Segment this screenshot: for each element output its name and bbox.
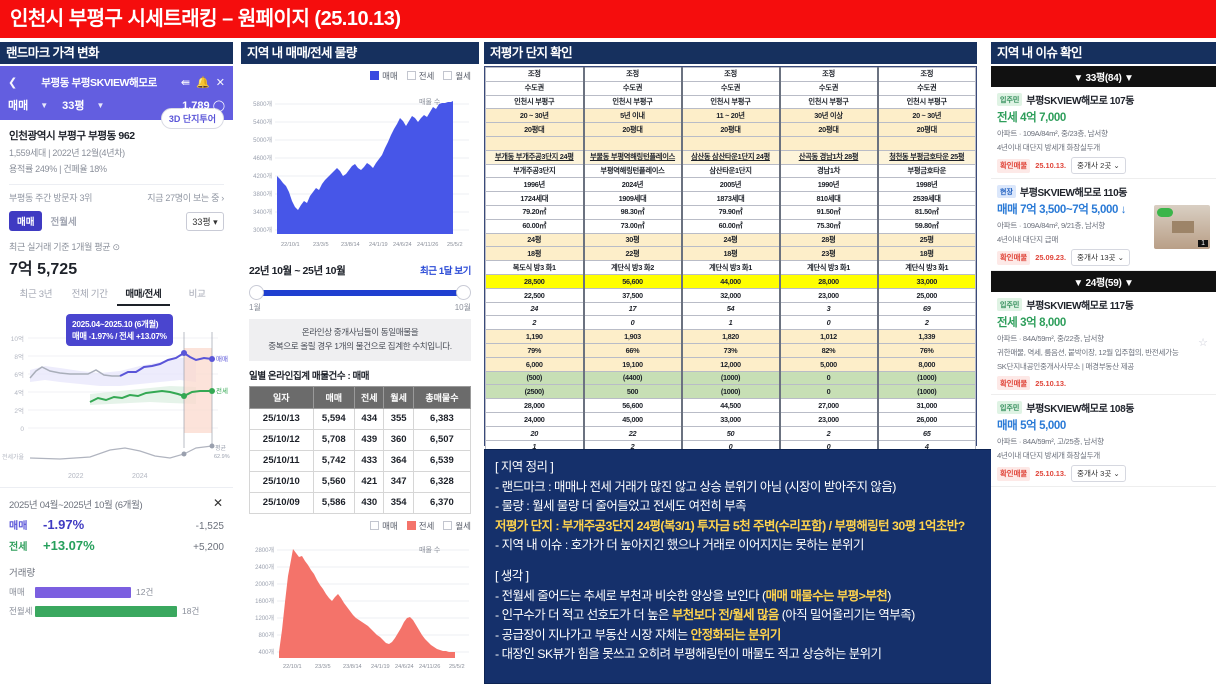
grid-cell: 조정 bbox=[878, 68, 976, 82]
share-icon[interactable]: ⇚ bbox=[181, 76, 190, 89]
grid-row-cnt1: 241754369 bbox=[486, 302, 976, 316]
complex-link[interactable]: 삼산동 삼산타운1단지 24평 bbox=[682, 150, 780, 164]
svg-text:2022: 2022 bbox=[68, 473, 84, 480]
grid-cell: 1909세대 bbox=[584, 192, 682, 206]
svg-text:2억: 2억 bbox=[14, 407, 24, 415]
legend-item-wolse[interactable]: 월세 bbox=[443, 520, 471, 532]
section-header-undervalued: 저평가 단지 확인 bbox=[484, 42, 977, 64]
grid-cell: 1,339 bbox=[878, 330, 976, 344]
grid-cell: 24평 bbox=[486, 233, 584, 247]
grid-cell: 69 bbox=[878, 302, 976, 316]
svg-text:3800개: 3800개 bbox=[253, 190, 272, 198]
cell-date: 25/10/11 bbox=[250, 450, 314, 471]
col-date: 일자 bbox=[250, 386, 314, 408]
grid-cell: 26,000 bbox=[878, 412, 976, 426]
daily-listing-table: 일자 매매 전세 월세 총매물수 25/10/135,5944343556,38… bbox=[249, 386, 471, 514]
cell-value: 434 bbox=[355, 408, 384, 429]
grid-cell: 23,000 bbox=[780, 288, 878, 302]
legend-item-sale[interactable]: 매매 bbox=[370, 70, 398, 82]
cell-value: 6,370 bbox=[413, 492, 470, 513]
search-icon: ◯ bbox=[213, 100, 225, 112]
listing-title: 부평SKVIEW해모로 108동 bbox=[1026, 400, 1134, 415]
deal-type-select[interactable]: 매매▼ bbox=[8, 97, 48, 113]
grid-cell: (500) bbox=[486, 371, 584, 385]
grid-cell: 부평역해링턴플레이스 bbox=[584, 164, 682, 178]
grid-cell: 24평 bbox=[682, 233, 780, 247]
vol-jeonse-count: 18건 bbox=[182, 605, 199, 617]
grid-cell: 28,000 bbox=[486, 399, 584, 413]
svg-text:62.9%: 62.9% bbox=[214, 454, 230, 460]
period-slider[interactable] bbox=[249, 284, 471, 302]
svg-text:24/1/19: 24/1/19 bbox=[371, 664, 390, 670]
grid-cell: 20평대 bbox=[682, 123, 780, 137]
svg-text:10억: 10억 bbox=[11, 335, 24, 343]
grid-cell: 계단식 방3 화2 bbox=[584, 261, 682, 275]
section-header-supply: 지역 내 매매/전세 물량 bbox=[241, 42, 479, 64]
grid-row-exclusive_pyeong: 18평22평18평23평18평 bbox=[486, 247, 976, 261]
svg-text:2800개: 2800개 bbox=[255, 546, 274, 554]
listing-agency: SK단지내공인중개사사무소 | 매경부동산 제공 bbox=[997, 361, 1210, 372]
cell-value: 6,539 bbox=[413, 450, 470, 471]
svg-text:6억: 6억 bbox=[14, 371, 24, 379]
grid-cell: 82% bbox=[780, 343, 878, 357]
listing-title: 부평SKVIEW해모로 107동 bbox=[1026, 92, 1134, 107]
grid-cell: 33,000 bbox=[878, 274, 976, 288]
summary-sale-label: 매매 bbox=[9, 517, 39, 532]
tab-compare[interactable]: 비교 bbox=[170, 286, 224, 306]
bell-icon[interactable]: 🔔 bbox=[196, 76, 210, 89]
cell-value: 6,507 bbox=[413, 429, 470, 450]
svg-text:매물 수: 매물 수 bbox=[419, 98, 441, 106]
listing-count[interactable]: 1,789 ◯ bbox=[182, 99, 225, 112]
grid-cell: 44,500 bbox=[682, 399, 780, 413]
list-item[interactable]: 입주민부평SKVIEW해모로 107동전세 4억 7,000아파트 · 109A… bbox=[991, 87, 1216, 179]
cell-value: 6,328 bbox=[413, 471, 470, 492]
grid-cell: 33,000 bbox=[682, 412, 780, 426]
listings-panel: ▼ 33평(84) ▼입주민부평SKVIEW해모로 107동전세 4억 7,00… bbox=[991, 66, 1216, 684]
svg-text:4억: 4억 bbox=[14, 389, 24, 397]
grid-cell: 59.80㎡ bbox=[878, 219, 976, 233]
verified-badge: 확인매물 bbox=[997, 159, 1030, 173]
grid-cell: 인천시 부평구 bbox=[682, 95, 780, 109]
cell-value: 6,383 bbox=[413, 408, 470, 429]
grid-cell: 1,820 bbox=[682, 330, 780, 344]
volume-label: 거래량 bbox=[9, 565, 224, 579]
grid-row-invest: 6,00019,10012,0005,0008,000 bbox=[486, 357, 976, 371]
cell-value: 360 bbox=[384, 429, 413, 450]
chart-tabs: 최근 3년 전체 기간 매매/전세 비교 bbox=[9, 286, 224, 306]
close-icon[interactable]: ✕ bbox=[213, 496, 223, 510]
verified-badge: 확인매물 bbox=[997, 467, 1030, 481]
grid-cell: 25평 bbox=[878, 233, 976, 247]
listing-price: 전세 3억 8,000 bbox=[997, 314, 1210, 330]
chevron-down-icon: ▼ bbox=[40, 101, 48, 110]
grid-cell: 23평 bbox=[780, 247, 878, 261]
grid-cell bbox=[584, 136, 682, 150]
legend-item-jeonse[interactable]: 전세 bbox=[407, 70, 435, 82]
cell-value: 347 bbox=[384, 471, 413, 492]
grid-cell: 수도권 bbox=[584, 81, 682, 95]
list-item[interactable]: 입주민부평SKVIEW해모로 108동매매 5억 5,000아파트 · 84A/… bbox=[991, 395, 1216, 487]
svg-text:4200개: 4200개 bbox=[253, 172, 272, 180]
undervalued-table-panel: 조정조정조정조정조정수도권수도권수도권수도권수도권인천시 부평구인천시 부평구인… bbox=[484, 66, 977, 446]
table-caption: 일별 온라인집계 매물건수 : 매매 bbox=[249, 368, 471, 382]
cell-value: 5,742 bbox=[313, 450, 354, 471]
grid-cell: 2 bbox=[486, 316, 584, 330]
grid-row-adj2: (2500)500(1000)0(1000) bbox=[486, 385, 976, 399]
svg-text:8억: 8억 bbox=[14, 353, 24, 361]
cell-value: 439 bbox=[355, 429, 384, 450]
svg-text:23/3/5: 23/3/5 bbox=[315, 664, 331, 670]
svg-text:24/11/26: 24/11/26 bbox=[419, 664, 440, 670]
svg-text:0: 0 bbox=[20, 426, 24, 433]
complex-name: 부평동 부평SKVIEW해모로 bbox=[23, 75, 175, 90]
grid-cell: 73% bbox=[682, 343, 780, 357]
cell-value: 355 bbox=[384, 408, 413, 429]
grid-row-region: 수도권수도권수도권수도권수도권 bbox=[486, 81, 976, 95]
svg-text:평균: 평균 bbox=[215, 444, 227, 452]
grid-row-price_lo: 22,50037,50032,00023,00025,000 bbox=[486, 288, 976, 302]
grid-row-spacer bbox=[486, 136, 976, 150]
cell-value: 5,560 bbox=[313, 471, 354, 492]
slider-handle-right[interactable] bbox=[456, 285, 471, 300]
svg-text:3000개: 3000개 bbox=[253, 226, 272, 234]
cell-value: 5,594 bbox=[313, 408, 354, 429]
grid-row-year: 1996년2024년2005년1990년1998년 bbox=[486, 178, 976, 192]
favorite-star-icon[interactable]: ☆ bbox=[1198, 336, 1208, 349]
grid-row-price_hi: 28,50056,60044,00028,00033,000 bbox=[486, 274, 976, 288]
grid-cell: 1873세대 bbox=[682, 192, 780, 206]
one-page-dashboard: 인천시 부평구 시세트래킹 – 원페이지 (25.10.13) 랜드마크 가격 … bbox=[0, 0, 1216, 684]
summary-jeonse-label: 전세 bbox=[9, 538, 39, 553]
listing-group-header[interactable]: ▼ 33평(84) ▼ bbox=[991, 66, 1216, 87]
section-header-landmark: 랜드마크 가격 변화 bbox=[0, 42, 233, 64]
legend-item-jeonse[interactable]: 전세 bbox=[407, 520, 435, 532]
grid-cell: 20 bbox=[486, 426, 584, 440]
grid-cell bbox=[878, 136, 976, 150]
complex-link[interactable]: 부물동 부평역해링턴플레이스 bbox=[584, 150, 682, 164]
grid-cell: 30평 bbox=[584, 233, 682, 247]
cell-value: 421 bbox=[355, 471, 384, 492]
vol-sale-label: 매매 bbox=[9, 586, 35, 598]
chart-tooltip: 2025.04~2025.10 (6개월) 매매 -1.97% / 전세 +13… bbox=[66, 314, 173, 346]
tab-3years[interactable]: 최근 3년 bbox=[9, 286, 63, 306]
room-photo bbox=[1172, 221, 1194, 233]
grid-row-supply_area: 79.20㎡98.30㎡79.90㎡91.50㎡81.50㎡ bbox=[486, 205, 976, 219]
grid-cell: 조정 bbox=[780, 68, 878, 82]
grid-cell bbox=[780, 136, 878, 150]
slider-label-right: 10월 bbox=[455, 302, 471, 313]
grid-cell: 조정 bbox=[486, 68, 584, 82]
grid-cell: 98.30㎡ bbox=[584, 205, 682, 219]
svg-text:25/5/2: 25/5/2 bbox=[447, 242, 463, 248]
cell-date: 25/10/10 bbox=[250, 471, 314, 492]
tab-sale-jeonse[interactable]: 매매/전세 bbox=[117, 286, 171, 306]
svg-text:24/1/19: 24/1/19 bbox=[369, 242, 388, 248]
tab-sale[interactable]: 매매 bbox=[9, 211, 42, 231]
svg-text:24/11/26: 24/11/26 bbox=[417, 242, 438, 248]
grid-cell: (1000) bbox=[682, 371, 780, 385]
tab-jeonse[interactable]: 전월세 bbox=[42, 211, 84, 231]
svg-text:23/8/14: 23/8/14 bbox=[343, 664, 362, 670]
svg-text:전세가율: 전세가율 bbox=[2, 453, 25, 461]
grid-row-cnt3: 202250265 bbox=[486, 426, 976, 440]
listing-group-header[interactable]: ▼ 24평(59) ▼ bbox=[991, 271, 1216, 292]
grid-cell: 조정 bbox=[682, 68, 780, 82]
cell-value: 430 bbox=[355, 492, 384, 513]
recent-month-link[interactable]: 최근 1달 보기 bbox=[420, 263, 471, 278]
listing-features: 귀한매물, 역세, 룸음션, 붙박이장, 12월 입주협의, 반전세가능 bbox=[997, 347, 1210, 358]
grid-cell: 조정 bbox=[584, 68, 682, 82]
grid-row-adj1: (500)(4400)(1000)0(1000) bbox=[486, 371, 976, 385]
grid-cell: 24 bbox=[486, 302, 584, 316]
cell-value: 364 bbox=[384, 450, 413, 471]
grid-cell: 28평 bbox=[780, 233, 878, 247]
grid-cell: 75.30㎡ bbox=[780, 219, 878, 233]
listing-spec: 아파트 · 84A/59m², 중/22층, 남서향 bbox=[997, 333, 1210, 344]
grid-cell: 0 bbox=[780, 371, 878, 385]
grid-cell: 22 bbox=[584, 426, 682, 440]
grid-cell: 수도권 bbox=[682, 81, 780, 95]
cell-value: 5,708 bbox=[313, 429, 354, 450]
grid-row-cnt2: 20102 bbox=[486, 316, 976, 330]
grid-cell: 5,000 bbox=[780, 357, 878, 371]
grid-cell: 60.00㎡ bbox=[682, 219, 780, 233]
svg-text:25/5/2: 25/5/2 bbox=[449, 664, 465, 670]
grid-cell: 2539세대 bbox=[878, 192, 976, 206]
legend-sale-chart: 매매 전세 월세 bbox=[241, 66, 479, 82]
avg-price: 7억 5,725 bbox=[9, 255, 224, 279]
summary-sale-pct: -1.97% bbox=[43, 517, 84, 532]
grid-cell: 79% bbox=[486, 343, 584, 357]
grid-cell: 22평 bbox=[584, 247, 682, 261]
legend-item-sale[interactable]: 매매 bbox=[370, 520, 398, 532]
listing-title: 부평SKVIEW해모로 110동 bbox=[1020, 184, 1127, 199]
grid-row-age: 20 ~ 30년5년 이내11 ~ 20년30년 이상20 ~ 30년 bbox=[486, 109, 976, 123]
grid-cell: 8,000 bbox=[878, 357, 976, 371]
grid-cell: 30년 이상 bbox=[780, 109, 878, 123]
grid-cell: 계단식 방3 화1 bbox=[878, 261, 976, 275]
address: 인천광역시 부평구 부평동 962 bbox=[9, 128, 224, 143]
grid-cell: 17 bbox=[584, 302, 682, 316]
grid-cell: (4400) bbox=[584, 371, 682, 385]
col-wolse: 월세 bbox=[384, 386, 413, 408]
broker-count[interactable]: 중개사 2곳 ⌄ bbox=[1071, 157, 1126, 174]
grid-cell: 수도권 bbox=[878, 81, 976, 95]
cell-date: 25/10/09 bbox=[250, 492, 314, 513]
col-sale: 매매 bbox=[313, 386, 354, 408]
grid-cell: 1724세대 bbox=[486, 192, 584, 206]
svg-text:1200개: 1200개 bbox=[255, 614, 274, 622]
grid-row-region_grade: 조정조정조정조정조정 bbox=[486, 68, 976, 82]
section-header-issues: 지역 내 이슈 확인 bbox=[991, 42, 1216, 64]
grid-cell: 18평 bbox=[878, 247, 976, 261]
svg-text:5800개: 5800개 bbox=[253, 100, 272, 108]
grid-cell: 부개주공3단지 bbox=[486, 164, 584, 178]
grid-cell bbox=[486, 136, 584, 150]
close-icon[interactable]: ✕ bbox=[216, 76, 225, 89]
listing-spec: 아파트 · 84A/59m², 고/25층, 남서향 bbox=[997, 436, 1210, 447]
aggregation-note: 온라인상 중개사님들이 동일매물을 중복으로 올릴 경우 1개의 물건으로 집계… bbox=[249, 319, 471, 361]
grid-cell: 18평 bbox=[682, 247, 780, 261]
listing-tag: 입주민 bbox=[997, 298, 1022, 311]
svg-text:3400개: 3400개 bbox=[253, 208, 272, 216]
slider-track bbox=[257, 290, 463, 296]
size-dropdown[interactable]: 33평 ▾ bbox=[186, 212, 224, 231]
viewers-now[interactable]: 지금 27명이 보는 중 › bbox=[147, 191, 224, 204]
video-icon bbox=[1157, 208, 1173, 217]
legend-item-wolse[interactable]: 월세 bbox=[443, 70, 471, 82]
table-row: 25/10/135,5944343556,383 bbox=[250, 408, 471, 429]
svg-text:22/10/1: 22/10/1 bbox=[283, 664, 302, 670]
grid-cell: 18평 bbox=[486, 247, 584, 261]
grid-cell: 44,000 bbox=[682, 274, 780, 288]
grid-cell: 500 bbox=[584, 385, 682, 399]
grid-row-district: 인천시 부평구인천시 부평구인천시 부평구인천시 부평구인천시 부평구 bbox=[486, 95, 976, 109]
svg-text:24/6/24: 24/6/24 bbox=[393, 242, 412, 248]
svg-text:800개: 800개 bbox=[258, 631, 274, 639]
svg-text:2000개: 2000개 bbox=[255, 580, 274, 588]
period-summary: ✕ 2025년 04월~2025년 10월 (6개월) 매매 -1.97% -1… bbox=[0, 487, 233, 617]
grid-cell: 81.50㎡ bbox=[878, 205, 976, 219]
grid-cell: 수도권 bbox=[780, 81, 878, 95]
grid-cell: 수도권 bbox=[486, 81, 584, 95]
slider-handle-left[interactable] bbox=[249, 285, 264, 300]
back-icon[interactable]: ❮ bbox=[8, 76, 17, 89]
list-item[interactable]: 입주민부평SKVIEW해모로 117동전세 3억 8,000아파트 · 84A/… bbox=[991, 292, 1216, 395]
grid-cell: 3 bbox=[780, 302, 878, 316]
svg-text:23/3/5: 23/3/5 bbox=[313, 242, 329, 248]
grid-cell: 6,000 bbox=[486, 357, 584, 371]
svg-text:1600개: 1600개 bbox=[255, 597, 274, 605]
grid-row-per: 1,1901,9031,8201,0121,339 bbox=[486, 330, 976, 344]
grid-cell bbox=[682, 136, 780, 150]
grid-cell: 1,012 bbox=[780, 330, 878, 344]
col-total: 총매물수 bbox=[413, 386, 470, 408]
grid-cell: 28,500 bbox=[486, 274, 584, 288]
grid-cell: 2024년 bbox=[584, 178, 682, 192]
grid-cell: 24,000 bbox=[486, 412, 584, 426]
grid-cell: 1,903 bbox=[584, 330, 682, 344]
grid-cell: 20 ~ 30년 bbox=[878, 109, 976, 123]
list-item[interactable]: 현장부평SKVIEW해모로 110동매매 7억 3,500~7억 5,000 ↓… bbox=[991, 179, 1216, 271]
cell-value: 5,586 bbox=[313, 492, 354, 513]
price-history-chart: 2025.04~2025.10 (6개월) 매매 -1.97% / 전세 +13… bbox=[0, 308, 233, 483]
complex-link[interactable]: 산곡동 경남1차 28평 bbox=[780, 150, 878, 164]
grid-cell: 1996년 bbox=[486, 178, 584, 192]
grid-cell: 인천시 부평구 bbox=[878, 95, 976, 109]
grid-cell: 11 ~ 20년 bbox=[682, 109, 780, 123]
vol-sale-bar bbox=[35, 587, 131, 598]
grid-cell: 20평대 bbox=[486, 123, 584, 137]
grid-cell: 삼산타운1단지 bbox=[682, 164, 780, 178]
cell-value: 354 bbox=[384, 492, 413, 513]
grid-cell: 25,000 bbox=[878, 288, 976, 302]
verified-badge: 확인매물 bbox=[997, 376, 1030, 390]
verified-date: 25.10.13. bbox=[1035, 379, 1066, 388]
complex-link[interactable]: 청천동 부평금호타운 25평 bbox=[878, 150, 976, 164]
grid-cell: 31,000 bbox=[878, 399, 976, 413]
grid-row-link: 부개동 부개주공3단지 24평부물동 부평역해링턴플레이스삼산동 삼산타운1단지… bbox=[486, 150, 976, 164]
grid-cell: 19,100 bbox=[584, 357, 682, 371]
chevron-down-icon: ▼ bbox=[97, 101, 105, 110]
complex-link[interactable]: 부개동 부개주공3단지 24평 bbox=[486, 150, 584, 164]
grid-cell: 50 bbox=[682, 426, 780, 440]
grid-cell: 0 bbox=[584, 316, 682, 330]
grid-cell: 인천시 부평구 bbox=[780, 95, 878, 109]
grid-cell: 1998년 bbox=[878, 178, 976, 192]
grid-cell: 66% bbox=[584, 343, 682, 357]
svg-text:24/6/24: 24/6/24 bbox=[395, 664, 414, 670]
listing-tag: 입주민 bbox=[997, 93, 1022, 106]
listing-thumbnail[interactable]: 1 bbox=[1154, 205, 1210, 249]
broker-count[interactable]: 중개사 13곳 ⌄ bbox=[1071, 249, 1130, 266]
svg-text:2400개: 2400개 bbox=[255, 563, 274, 571]
grid-cell: 20평대 bbox=[780, 123, 878, 137]
grid-cell: 28,000 bbox=[780, 274, 878, 288]
grid-cell: 23,000 bbox=[780, 412, 878, 426]
grid-cell: 22,500 bbox=[486, 288, 584, 302]
tab-all-period[interactable]: 전체 기간 bbox=[63, 286, 117, 306]
verified-badge: 확인매물 bbox=[997, 251, 1030, 265]
grid-row-exclusive_area: 60.00㎡73.00㎡60.00㎡75.30㎡59.80㎡ bbox=[486, 219, 976, 233]
cell-date: 25/10/12 bbox=[250, 429, 314, 450]
grid-cell: 810세대 bbox=[780, 192, 878, 206]
summary-jeonse-pct: +13.07% bbox=[43, 538, 95, 553]
grid-cell: 계단식 방3 화1 bbox=[780, 261, 878, 275]
grid-cell: 1990년 bbox=[780, 178, 878, 192]
svg-text:2024: 2024 bbox=[132, 473, 148, 480]
grid-cell: 79.90㎡ bbox=[682, 205, 780, 219]
table-header-row: 일자 매매 전세 월세 총매물수 bbox=[250, 386, 471, 408]
landmark-panel: ❮ 부평동 부평SKVIEW해모로 ⇚ 🔔 ✕ 매매▼ 33평▼ 1,789 ◯ bbox=[0, 66, 233, 684]
supply-panel: 매매 전세 월세 5800개 5400개 5000개 4600개 4200개 3… bbox=[241, 66, 479, 684]
svg-text:매물 수: 매물 수 bbox=[419, 546, 441, 554]
jeonse-supply-chart: 2800개 2400개 2000개 1600개 1200개 800개 400개 … bbox=[241, 532, 479, 672]
meta-households: 1,559세대 | 2022년 12월(4년차) bbox=[9, 146, 224, 159]
grid-cell: (2500) bbox=[486, 385, 584, 399]
listing-price: 전세 4억 7,000 bbox=[997, 109, 1210, 125]
summary-period: 2025년 04월~2025년 10월 (6개월) bbox=[9, 497, 224, 511]
grid-cell: 1 bbox=[682, 316, 780, 330]
avg-label: 최근 실거래 기준 1개월 평균 ⊙ bbox=[9, 240, 224, 253]
listing-title: 부평SKVIEW해모로 117동 bbox=[1026, 297, 1133, 312]
range-text: 22년 10월 ~ 25년 10월 bbox=[249, 263, 345, 278]
table-row: 25/10/125,7084393606,507 bbox=[250, 429, 471, 450]
grid-cell: 복도식 방3 화1 bbox=[486, 261, 584, 275]
grid-cell: (1000) bbox=[682, 385, 780, 399]
slider-label-left: 1월 bbox=[249, 302, 261, 313]
broker-count[interactable]: 중개사 3곳 ⌄ bbox=[1071, 465, 1126, 482]
grid-cell: 65 bbox=[878, 426, 976, 440]
grid-cell: 20 ~ 30년 bbox=[486, 109, 584, 123]
table-row: 25/10/095,5864303546,370 bbox=[250, 492, 471, 513]
grid-cell: 37,500 bbox=[584, 288, 682, 302]
grid-cell: 경남1차 bbox=[780, 164, 878, 178]
grid-cell: 12,000 bbox=[682, 357, 780, 371]
size-select[interactable]: 33평▼ bbox=[62, 97, 104, 113]
grid-cell: 2 bbox=[878, 316, 976, 330]
listing-tag: 입주민 bbox=[997, 401, 1022, 414]
grid-cell: 20평대 bbox=[584, 123, 682, 137]
svg-text:22/10/1: 22/10/1 bbox=[281, 242, 300, 248]
vol-jeonse-bar bbox=[35, 606, 177, 617]
grid-row-price_hi2: 28,00056,60044,50027,00031,000 bbox=[486, 399, 976, 413]
svg-text:23/8/14: 23/8/14 bbox=[341, 242, 360, 248]
summary-jeonse-delta: +5,200 bbox=[193, 542, 224, 553]
grid-cell: 2 bbox=[780, 426, 878, 440]
verified-date: 25.09.23. bbox=[1035, 253, 1066, 262]
